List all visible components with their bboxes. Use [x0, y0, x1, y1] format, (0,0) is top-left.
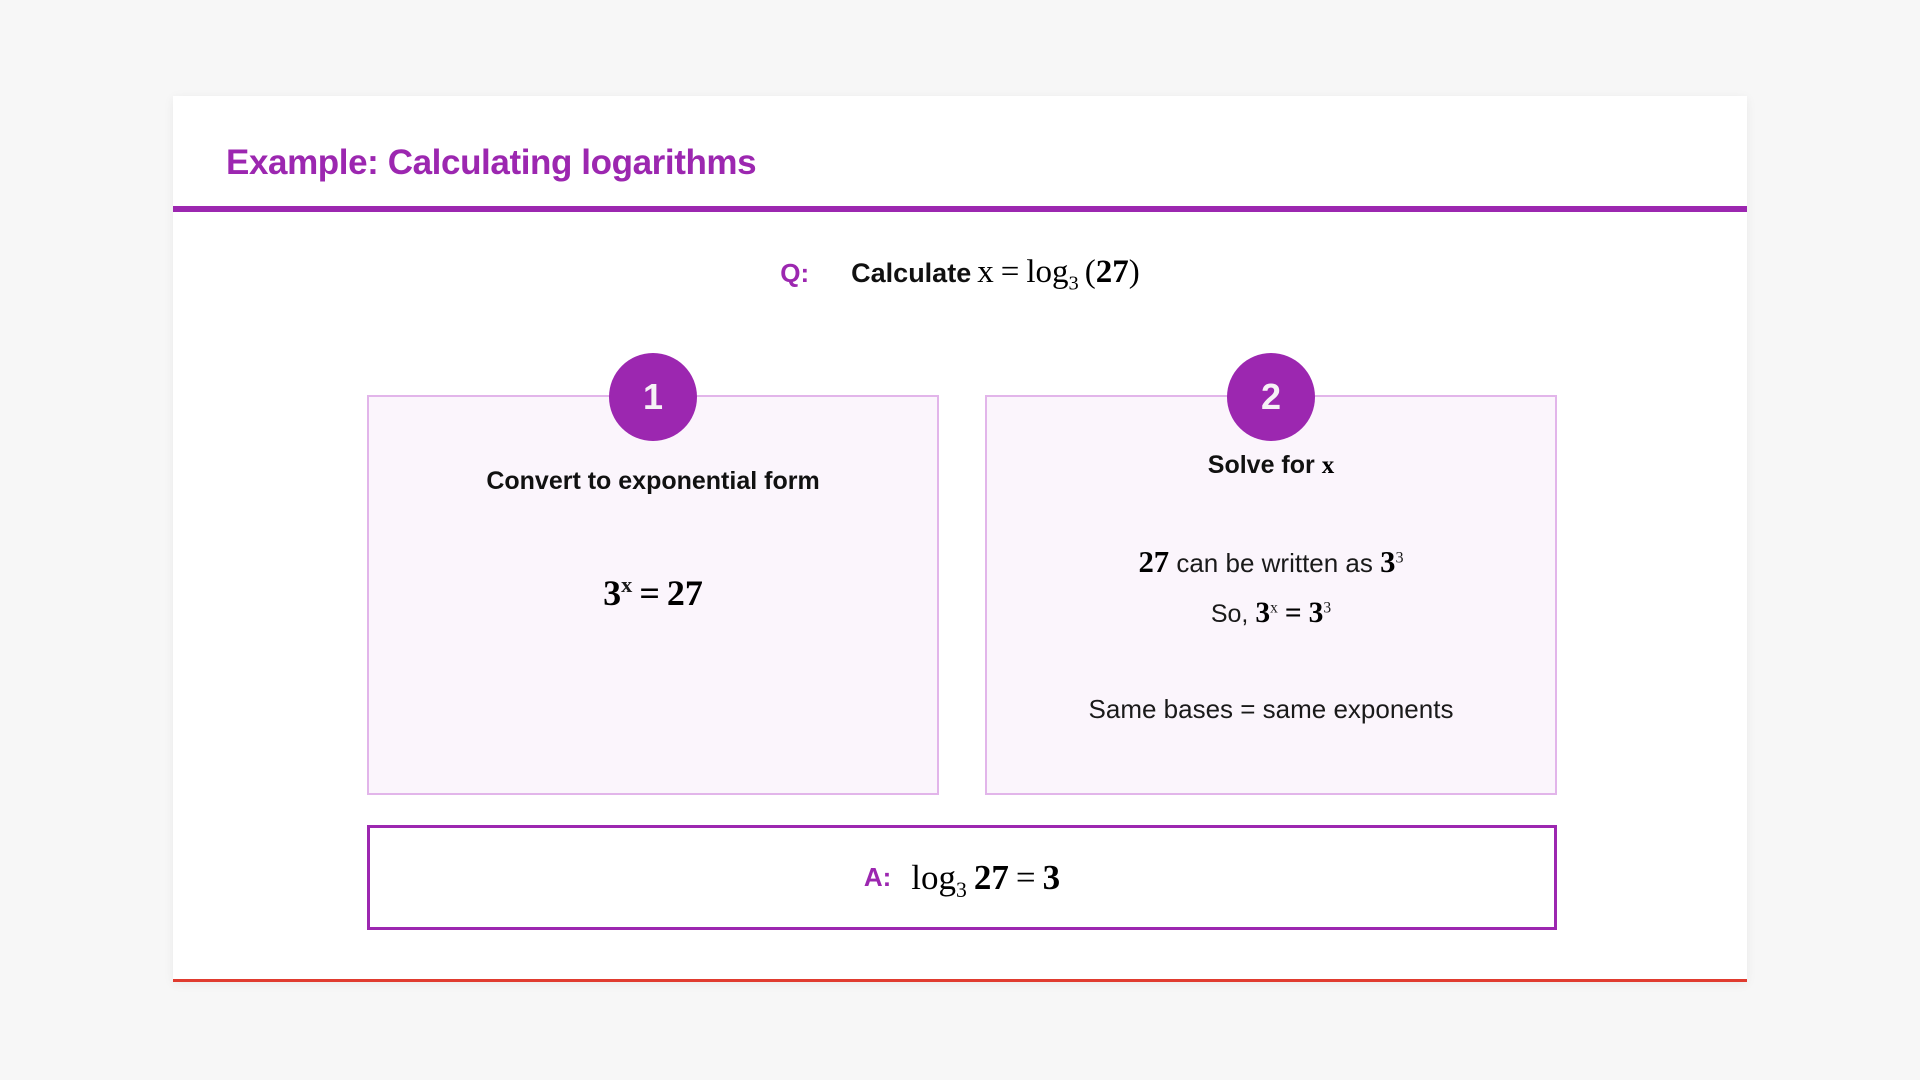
step-2-value: 27: [1138, 545, 1169, 579]
step-card-2: 2 Solve for x 27 can be written as 33 So…: [985, 395, 1557, 795]
step-badge-2: 2: [1227, 353, 1315, 441]
step-2-right-base: 3: [1309, 597, 1324, 629]
step-1-base: 3: [603, 573, 621, 613]
step-1-exponent: x: [621, 572, 632, 597]
step-2-line-2: So, 3x=33: [987, 597, 1555, 630]
answer-label: A:: [864, 862, 891, 893]
step-1-result: 27: [667, 573, 703, 613]
step-2-title: Solve for x: [987, 451, 1555, 480]
answer-base: 3: [956, 878, 967, 902]
step-2-line-1-base: 3: [1380, 545, 1395, 579]
answer-function: log: [911, 858, 956, 897]
question-prompt: Calculate: [851, 258, 971, 289]
step-1-equation: 3x=27: [369, 572, 937, 614]
step-2-equals: =: [1285, 597, 1302, 629]
answer-box: A: log327=3: [367, 825, 1557, 930]
question-function: log: [1026, 254, 1068, 290]
answer-expression: log327=3: [911, 858, 1060, 898]
step-2-title-variable: x: [1322, 452, 1335, 479]
question-label: Q:: [780, 258, 809, 289]
step-2-left-exponent: x: [1270, 600, 1278, 617]
question-equals: =: [1001, 254, 1020, 290]
question-expression: x=log3(27): [977, 254, 1140, 291]
question-variable: x: [977, 254, 994, 290]
step-2-line-2-prefix: So,: [1211, 600, 1249, 628]
steps-container: 1 Convert to exponential form 3x=27 2 So…: [367, 395, 1557, 795]
step-card-1: 1 Convert to exponential form 3x=27: [367, 395, 939, 795]
question-row: Q: Calculate x=log3(27): [173, 254, 1747, 291]
question-argument: 27: [1096, 254, 1129, 290]
step-badge-1: 1: [609, 353, 697, 441]
answer-equals: =: [1016, 858, 1036, 897]
step-2-line-1-text: can be written as: [1176, 548, 1373, 578]
step-2-line-1-exponent: 3: [1395, 549, 1403, 566]
slide-canvas: Example: Calculating logarithms Q: Calcu…: [173, 96, 1747, 982]
answer-result: 3: [1043, 858, 1061, 897]
answer-argument: 27: [974, 858, 1009, 897]
question-close-paren: ): [1129, 254, 1140, 290]
question-open-paren: (: [1085, 254, 1096, 290]
step-2-left-base: 3: [1255, 597, 1270, 629]
step-1-title: Convert to exponential form: [369, 467, 937, 496]
slide-stage: Example: Calculating logarithms Q: Calcu…: [0, 0, 1920, 1080]
step-2-line-3: Same bases = same exponents: [987, 694, 1555, 725]
step-2-line-1: 27 can be written as 33: [987, 545, 1555, 580]
step-2-right-exponent: 3: [1323, 600, 1331, 617]
question-base: 3: [1069, 273, 1079, 295]
page-title: Example: Calculating logarithms: [226, 143, 756, 183]
step-2-title-text: Solve for: [1208, 451, 1315, 479]
title-divider: [173, 206, 1747, 212]
step-1-equals: =: [639, 573, 660, 613]
